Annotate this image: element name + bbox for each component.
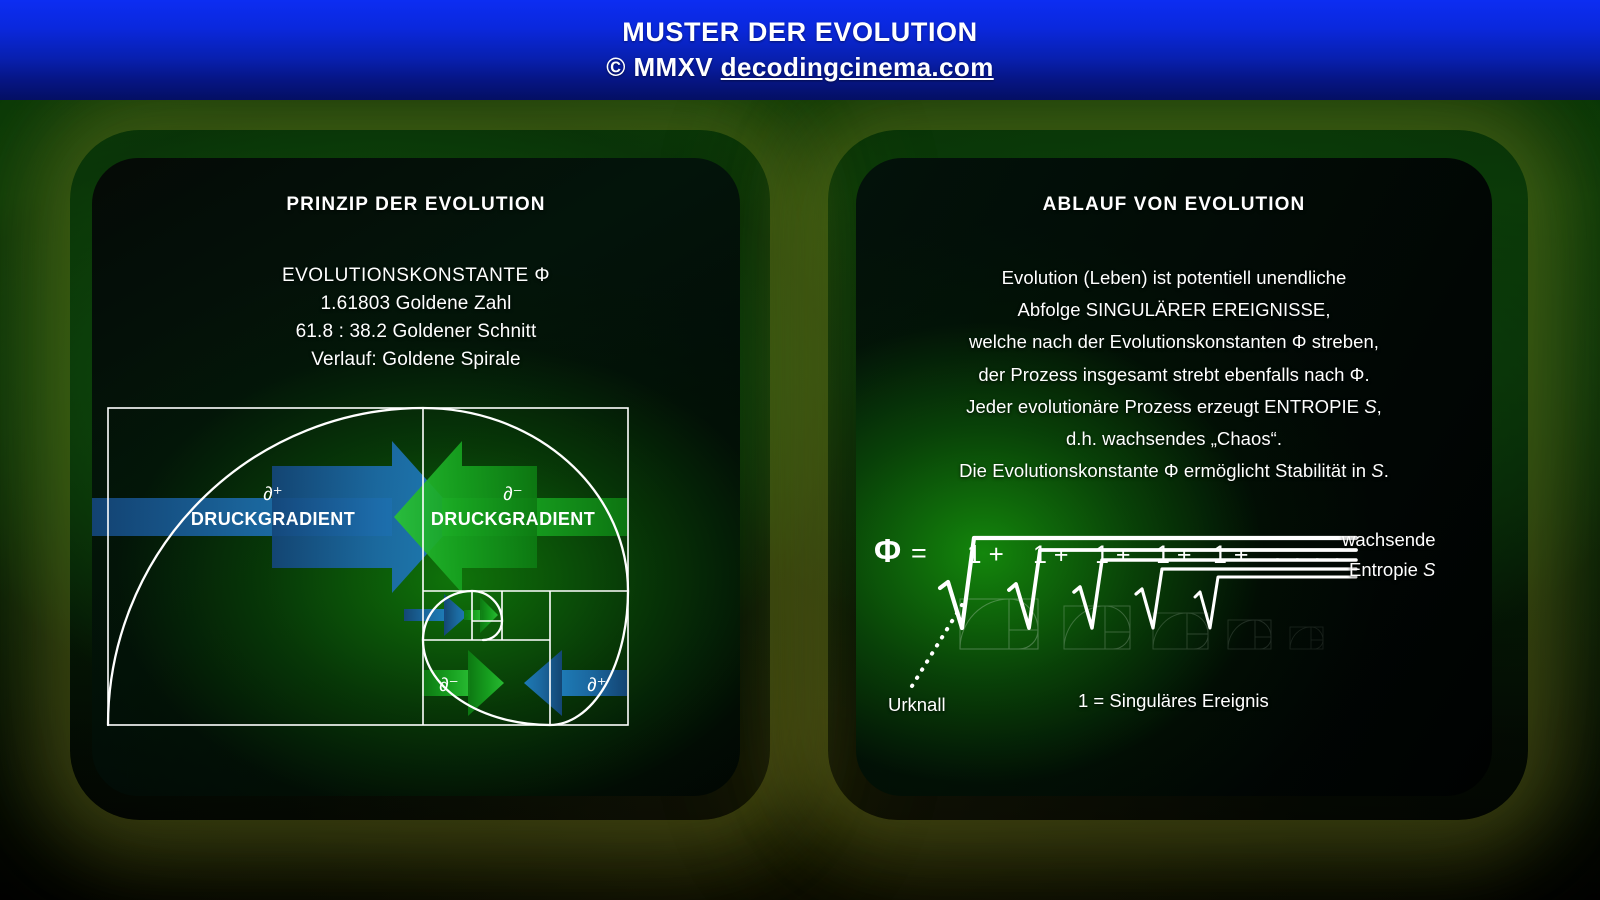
spiral-thumbnail — [1290, 627, 1323, 649]
left-text-line: EVOLUTIONSKONSTANTE Φ — [92, 262, 740, 290]
formula-term: 1 + — [967, 539, 1004, 569]
right-text-line: der Prozess insgesamt strebt ebenfalls n… — [874, 359, 1474, 391]
formula-term: 1 + — [1213, 541, 1248, 569]
right-panel-text-block: Evolution (Leben) ist potentiell unendli… — [874, 262, 1474, 487]
spiral-thumbnail — [1228, 620, 1271, 649]
left-text-line: Verlauf: Goldene Spirale — [92, 346, 740, 374]
urknall-label: Urknall — [888, 694, 946, 716]
spiral-thumbnail — [1153, 613, 1208, 649]
left-text-line: 1.61803 Goldene Zahl — [92, 290, 740, 318]
arrow-symbol-bottom-blue: ∂⁺ — [587, 675, 606, 696]
left-panel-title: PRINZIP DER EVOLUTION — [92, 194, 740, 216]
formula-term: 1 + — [1095, 541, 1130, 569]
urknall-connector — [912, 605, 962, 686]
arrow-mid-blue — [404, 594, 468, 636]
formula-term: 1 + — [1156, 541, 1191, 569]
left-text-line: 61.8 : 38.2 Goldener Schnitt — [92, 318, 740, 346]
left-panel: PRINZIP DER EVOLUTION EVOLUTIONSKONSTANT… — [92, 158, 740, 796]
formula-equals: = — [911, 538, 927, 568]
nested-radical-diagram: Φ = 1 + 1 + 1 + 1 + 1 + . . . . wachsend… — [856, 498, 1492, 796]
arrow-label-top-blue: DRUCKGRADIENT — [191, 509, 355, 529]
right-text-line: Evolution (Leben) ist potentiell unendli… — [874, 262, 1474, 294]
formula-ellipsis: . . . . — [1274, 539, 1344, 567]
golden-spiral-svg: ∂⁺ DRUCKGRADIENT ∂⁻ DRUCKGRADIENT ∂⁻ ∂⁺ — [92, 388, 740, 788]
arrow-symbol-top-blue: ∂⁺ — [263, 484, 282, 505]
right-panel: ABLAUF VON EVOLUTION Evolution (Leben) i… — [856, 158, 1492, 796]
header-banner: MUSTER DER EVOLUTION © MMXV decodingcine… — [0, 0, 1600, 100]
arrow-bottom-blue — [524, 650, 627, 716]
right-text-line: Die Evolutionskonstante Φ ermöglicht Sta… — [874, 455, 1474, 487]
spiral-thumbnail — [1064, 606, 1130, 649]
entropy-label-line2: Entropie S — [1349, 559, 1435, 581]
copyright-line: © MMXV decodingcinema.com — [606, 51, 993, 84]
formula-phi: Φ — [874, 532, 901, 569]
singular-event-label: 1 = Singuläres Ereignis — [1078, 690, 1269, 712]
arrow-mid-green — [464, 597, 498, 633]
page-title: MUSTER DER EVOLUTION — [622, 16, 978, 49]
right-text-line: welche nach der Evolutionskonstanten Φ s… — [874, 326, 1474, 358]
spiral-thumbnail-row — [960, 599, 1323, 649]
arrow-bottom-green — [422, 650, 504, 716]
right-text-line: Jeder evolutionäre Prozess erzeugt ENTRO… — [874, 391, 1474, 423]
left-panel-text-block: EVOLUTIONSKONSTANTE Φ 1.61803 Goldene Za… — [92, 262, 740, 374]
arrow-symbol-bottom-green: ∂⁻ — [439, 675, 458, 696]
slide-root: MUSTER DER EVOLUTION © MMXV decodingcine… — [0, 0, 1600, 900]
arrow-symbol-top-green: ∂⁻ — [503, 484, 522, 505]
arrow-label-top-green: DRUCKGRADIENT — [431, 509, 595, 529]
right-panel-title: ABLAUF VON EVOLUTION — [856, 194, 1492, 216]
golden-spiral-diagram: ∂⁺ DRUCKGRADIENT ∂⁻ DRUCKGRADIENT ∂⁻ ∂⁺ — [92, 388, 740, 788]
copyright-prefix: © MMXV — [606, 52, 720, 82]
entropy-label-line1: wachsende — [1342, 529, 1436, 551]
right-text-line: d.h. wachsendes „Chaos“. — [874, 423, 1474, 455]
site-link[interactable]: decodingcinema.com — [721, 52, 994, 82]
right-text-line: Abfolge SINGULÄRER EREIGNISSE, — [874, 294, 1474, 326]
formula-term: 1 + — [1033, 541, 1068, 569]
